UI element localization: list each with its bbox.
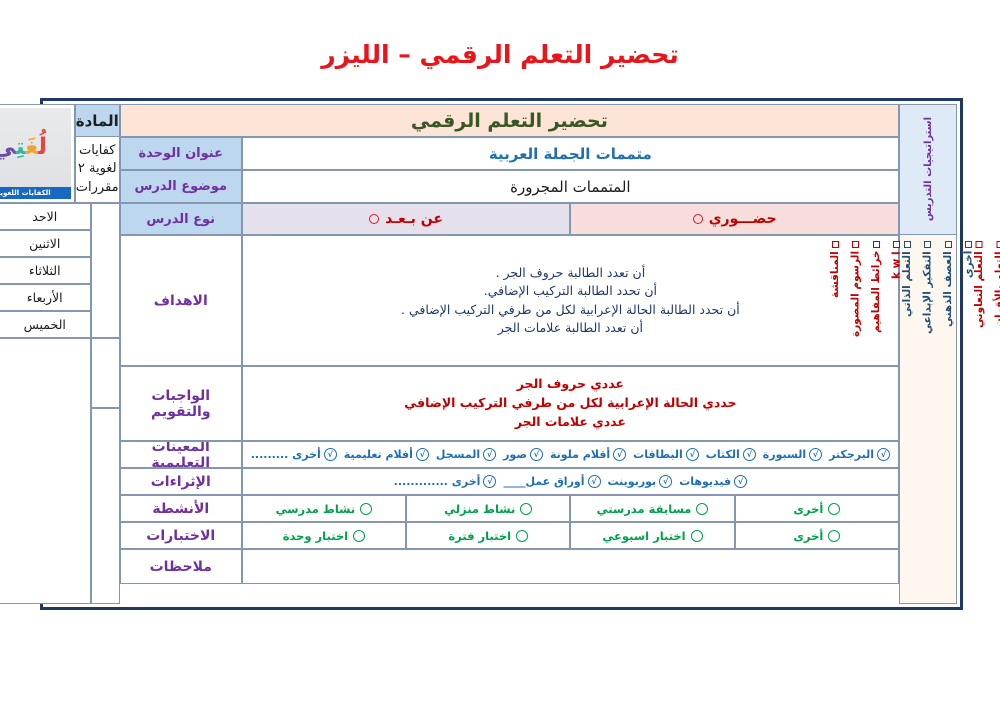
textbook-logo: لُغَتِي الكفايات اللغوية 2 — [0, 104, 75, 203]
logo-artwork: لُغَتِي — [0, 108, 71, 187]
objective-line: أن تحدد الطالبة الحالة الإعرابية لكل من … — [401, 301, 740, 319]
check-circle-icon[interactable]: √ — [483, 448, 496, 461]
test-label: اختبار فترة — [448, 529, 511, 543]
strategy-item[interactable]: الرسوم المصورة — [851, 241, 862, 337]
lesson-type-onsite-label: حضـــوري — [709, 211, 777, 227]
strategy-column-1: المناقشة الرسوم المصورة خرائط المفاهيم — [830, 241, 902, 597]
activity-label: نشاط مدرسي — [276, 502, 356, 516]
objective-line: أن تحدد الطالبة التركيب الإضافي. — [484, 282, 657, 300]
test-label: أخرى — [793, 529, 823, 543]
lesson-type-label: نوع الدرس — [120, 203, 242, 235]
subject-and-logo: المادة كفايات لغوية ٢مقررات لُغَتِي الكف… — [0, 104, 120, 203]
lesson-type-onsite-option[interactable]: حضـــوري — [570, 203, 899, 235]
check-circle-icon[interactable]: √ — [416, 448, 429, 461]
teaching-aids-options: √ البرجكتر √ السبورة √ الكتاب √ — [242, 441, 899, 468]
day-cell[interactable]: الثلاثاء — [0, 257, 91, 284]
aid-label: أخرى ......... — [251, 448, 321, 461]
check-circle-icon[interactable]: √ — [686, 448, 699, 461]
enrichment-label: بوربوينت — [608, 475, 657, 488]
enrichment-label: أوراق عمل____ — [503, 475, 584, 488]
radio-circle-icon[interactable] — [353, 530, 365, 542]
activities-label: الأنشطة — [120, 495, 242, 522]
strategy-item[interactable]: التعلم بالأقران — [995, 241, 1000, 327]
document-page: تحضير التعلم الرقمي – الليزر استراتيجيات… — [0, 0, 1000, 707]
aid-option[interactable]: √ المسجل — [436, 448, 496, 461]
teaching-aids-row: √ البرجكتر √ السبورة √ الكتاب √ — [120, 441, 899, 468]
dates-column — [91, 203, 120, 604]
lesson-type-row: حضـــوري عن بـعـد نوع الدرس — [120, 203, 899, 235]
check-circle-icon[interactable]: √ — [659, 475, 672, 488]
check-circle-icon[interactable]: √ — [613, 448, 626, 461]
strategies-header: استراتيجيات التدريس — [899, 104, 957, 235]
strategy-item[interactable]: المناقشة — [830, 241, 841, 298]
activity-option[interactable]: نشاط منزلي — [406, 495, 570, 522]
subject-value-text: كفايات لغوية ٢مقررات — [76, 142, 119, 197]
strategy-label: التفكير الإبداعي — [923, 251, 934, 334]
aid-label: السبورة — [763, 448, 806, 461]
aid-option[interactable]: √ البطاقات — [633, 448, 699, 461]
strategy-column-2: التعلم الذاتي التفكير الإبداعي العصف الذ… — [902, 241, 974, 597]
checkbox-icon[interactable] — [966, 241, 973, 248]
enrichment-label: فيديوهات — [679, 475, 731, 488]
checkbox-icon[interactable] — [925, 241, 932, 248]
check-circle-icon[interactable]: √ — [734, 475, 747, 488]
enrichment-label: أخرى ............. — [394, 475, 481, 488]
day-cell[interactable]: الاثنين — [0, 230, 91, 257]
test-option[interactable]: اختبار اسبوعي — [570, 522, 734, 549]
unit-value[interactable]: متممات الجملة العربية — [242, 137, 899, 170]
radio-circle-icon[interactable] — [691, 530, 703, 542]
enrichment-row: √ فيديوهات √ بوربوينت √ أوراق عمل____ — [120, 468, 899, 495]
enrichment-option[interactable]: √ فيديوهات — [679, 475, 747, 488]
aid-option[interactable]: √ أخرى ......... — [251, 448, 337, 461]
test-label: اختبار وحدة — [283, 529, 348, 543]
aid-label: البطاقات — [633, 448, 683, 461]
right-info-panel: المادة كفايات لغوية ٢مقررات لُغَتِي الكف… — [0, 104, 120, 604]
strategies-list: المناقشة الرسوم المصورة خرائط المفاهيم — [899, 235, 957, 604]
aid-label: المسجل — [436, 448, 480, 461]
aid-label: أقلام ملونة — [550, 448, 610, 461]
check-circle-icon[interactable]: √ — [588, 475, 601, 488]
homework-value[interactable]: عددي حروف الجر حددي الحالة الإعرابية لكل… — [242, 366, 899, 441]
strategy-label: العصف الذهني — [943, 251, 954, 327]
enrichment-option[interactable]: √ أوراق عمل____ — [503, 475, 600, 488]
day-cell[interactable]: الأربعاء — [0, 284, 91, 311]
aid-option[interactable]: √ السبورة — [763, 448, 822, 461]
lesson-main-column: تحضير التعلم الرقمي متممات الجملة العربي… — [120, 104, 899, 604]
unit-row: متممات الجملة العربية عنوان الوحدة — [120, 137, 899, 170]
objectives-value[interactable]: أن تعدد الطالبة حروف الجر . أن تحدد الطا… — [242, 235, 899, 366]
aid-option[interactable]: √ صور — [503, 448, 543, 461]
radio-circle-icon[interactable] — [516, 530, 528, 542]
activity-option[interactable]: مسابقة مدرستي — [570, 495, 734, 522]
check-circle-icon[interactable]: √ — [483, 475, 496, 488]
lesson-label: موضوع الدرس — [120, 170, 242, 203]
check-circle-icon[interactable]: √ — [324, 448, 337, 461]
tests-label: الاختبارات — [120, 522, 242, 549]
lesson-row: المتممات المجرورة موضوع الدرس — [120, 170, 899, 203]
objective-line: أن تعدد الطالبة علامات الجر — [498, 319, 643, 337]
strategy-item[interactable]: خرائط المفاهيم — [871, 241, 882, 333]
day-names-column: الاحد الاثنين الثلاثاء الأربعاء الخميس — [0, 203, 91, 604]
logo-wordmark: لُغَتِي — [0, 136, 47, 159]
aid-label: الكتاب — [706, 448, 740, 461]
subject-column: المادة كفايات لغوية ٢مقررات — [75, 104, 120, 203]
checkbox-icon[interactable] — [904, 241, 911, 248]
objectives-label: الاهداف — [120, 235, 242, 366]
logo-caption: الكفايات اللغوية 2 — [0, 187, 71, 199]
unit-label: عنوان الوحدة — [120, 137, 242, 170]
aid-option[interactable]: √ أقلام ملونة — [550, 448, 626, 461]
notes-label: ملاحظات — [120, 549, 242, 584]
strategy-item[interactable]: التعلم الذاتي — [902, 241, 913, 317]
radio-circle-icon[interactable] — [369, 214, 379, 224]
notes-value[interactable] — [242, 549, 899, 584]
homework-line: حددي الحالة الإعرابية لكل من طرفي التركي… — [404, 394, 736, 413]
radio-circle-icon[interactable] — [693, 214, 703, 224]
lesson-type-remote-option[interactable]: عن بـعـد — [242, 203, 571, 235]
notes-row: ملاحظات — [120, 549, 899, 584]
tests-options: أخرى اختبار اسبوعي اختبار فترة اختب — [242, 522, 899, 549]
activities-row: أخرى مسابقة مدرستي نشاط منزلي نشاط — [120, 495, 899, 522]
aid-option[interactable]: √ أفلام تعليمية — [344, 448, 429, 461]
strategies-header-label: استراتيجيات التدريس — [923, 117, 934, 221]
homework-row: عددي حروف الجر حددي الحالة الإعرابية لكل… — [120, 366, 899, 441]
objective-line: أن تعدد الطالبة حروف الجر . — [496, 264, 646, 282]
strategy-label: المناقشة — [830, 251, 841, 298]
enrichment-label: الإثراءات — [120, 468, 242, 495]
strategy-item[interactable]: العصف الذهني — [943, 241, 954, 327]
subject-value[interactable]: كفايات لغوية ٢مقررات — [75, 137, 120, 203]
aid-option[interactable]: √ الكتاب — [706, 448, 756, 461]
checkbox-icon[interactable] — [873, 241, 880, 248]
test-option[interactable]: اختبار وحدة — [242, 522, 406, 549]
day-blank-area — [0, 338, 91, 604]
schedule-panel: الاحد الاثنين الثلاثاء الأربعاء الخميس ا… — [0, 203, 120, 604]
homework-line: عددي حروف الجر — [517, 375, 624, 394]
checkbox-icon[interactable] — [894, 241, 901, 248]
day-cell[interactable]: الخميس — [0, 311, 91, 338]
activities-options: أخرى مسابقة مدرستي نشاط منزلي نشاط — [242, 495, 899, 522]
enrichment-option[interactable]: √ أخرى ............. — [394, 475, 497, 488]
checkbox-icon[interactable] — [832, 241, 839, 248]
check-circle-icon[interactable]: √ — [809, 448, 822, 461]
form-banner: تحضير التعلم الرقمي — [120, 104, 899, 137]
aid-label: أفلام تعليمية — [344, 448, 413, 461]
strategy-item[interactable]: التعلم التعاوني — [974, 241, 985, 328]
radio-circle-icon[interactable] — [696, 503, 708, 515]
strategy-label: التعلم بالأقران — [995, 251, 1000, 327]
page-title: تحضير التعلم الرقمي – الليزر — [0, 40, 1000, 69]
test-label: اختبار اسبوعي — [602, 529, 685, 543]
radio-circle-icon[interactable] — [360, 503, 372, 515]
date-entry-field[interactable] — [91, 338, 120, 408]
checkbox-icon[interactable] — [976, 241, 983, 248]
check-circle-icon[interactable]: √ — [530, 448, 543, 461]
objectives-row: أن تعدد الطالبة حروف الجر . أن تحدد الطا… — [120, 235, 899, 366]
lesson-type-remote-label: عن بـعـد — [385, 211, 443, 227]
activity-label: أخرى — [793, 502, 823, 516]
teaching-strategies-panel: استراتيجيات التدريس المناقشة الرسوم المص… — [899, 104, 957, 604]
strategy-label: الرسوم المصورة — [851, 251, 862, 337]
strategy-label: خرائط المفاهيم — [871, 251, 882, 333]
schedule-blank-area — [91, 408, 120, 604]
strategy-label: التعلم الذاتي — [902, 251, 913, 317]
checkbox-icon[interactable] — [853, 241, 860, 248]
check-circle-icon[interactable]: √ — [743, 448, 756, 461]
enrichment-option[interactable]: √ بوربوينت — [608, 475, 673, 488]
homework-label: الواجبات والتقويم — [120, 366, 242, 441]
teaching-aids-label: المعينات التعليمية — [120, 441, 242, 468]
activity-option[interactable]: نشاط مدرسي — [242, 495, 406, 522]
strategy-label: التعلم التعاوني — [974, 251, 985, 328]
day-cell[interactable]: الاحد — [0, 203, 91, 230]
checkbox-icon[interactable] — [945, 241, 952, 248]
tests-row: أخرى اختبار اسبوعي اختبار فترة اختب — [120, 522, 899, 549]
activity-label: نشاط منزلي — [444, 502, 515, 516]
strategy-item[interactable]: التفكير الإبداعي — [923, 241, 934, 334]
strategy-column-3: التعلم التعاوني التعلم بالأقران فكر - زا… — [974, 241, 1000, 597]
homework-line: عددي علامات الجر — [515, 413, 626, 432]
lesson-plan-frame: استراتيجيات التدريس المناقشة الرسوم المص… — [40, 98, 963, 610]
checkbox-icon[interactable] — [997, 241, 1000, 248]
activity-label: مسابقة مدرستي — [597, 502, 692, 516]
date-entry-field[interactable] — [91, 203, 120, 338]
radio-circle-icon[interactable] — [520, 503, 532, 515]
test-option[interactable]: اختبار فترة — [406, 522, 570, 549]
lesson-value[interactable]: المتممات المجرورة — [242, 170, 899, 203]
aid-label: صور — [503, 448, 527, 461]
enrichment-options: √ فيديوهات √ بوربوينت √ أوراق عمل____ — [242, 468, 899, 495]
subject-header: المادة — [75, 104, 120, 137]
